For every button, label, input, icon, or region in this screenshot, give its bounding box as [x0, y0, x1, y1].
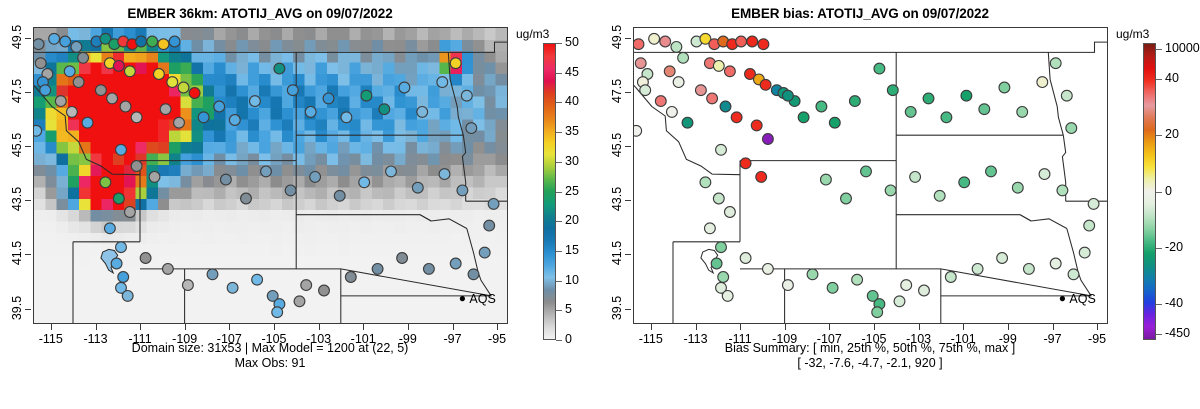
- svg-text:AQS: AQS: [469, 292, 495, 306]
- panel-bias: EMBER bias: ATOTIJ_AVG on 09/07/2022 AQS…: [600, 0, 1200, 409]
- x-tick: [785, 324, 786, 330]
- y-tick: [625, 200, 631, 201]
- y-tick-label: 39.5: [610, 288, 624, 328]
- colorbar-tick: [1156, 79, 1162, 80]
- y-tick-label: 49.5: [10, 17, 24, 57]
- colorbar-tick: [1156, 49, 1162, 50]
- y-tick-label: 45.5: [10, 125, 24, 165]
- colorbar-tick-label: 5: [565, 302, 572, 316]
- colorbar-tick: [556, 43, 562, 44]
- colorbar-tick-label: 35: [565, 124, 579, 138]
- colorbar-tick: [1156, 192, 1162, 193]
- y-tick-label: 49.5: [610, 17, 624, 57]
- x-tick: [96, 324, 97, 330]
- colorbar-tick: [556, 221, 562, 222]
- y-tick: [625, 309, 631, 310]
- x-tick: [919, 324, 920, 330]
- x-tick: [1097, 324, 1098, 330]
- x-tick: [874, 324, 875, 330]
- y-tick: [25, 92, 31, 93]
- caption-bias-line1: Bias Summary: [ min, 25th %, 50th %, 75t…: [600, 341, 1140, 356]
- x-tick: [1008, 324, 1009, 330]
- colorbar-tick-label: 50: [565, 35, 579, 49]
- y-tick-label: 47.5: [10, 71, 24, 111]
- y-tick-label: 43.5: [10, 179, 24, 219]
- colorbar-tick: [1156, 135, 1162, 136]
- y-tick: [625, 38, 631, 39]
- colorbar-tick-label: 20: [1165, 127, 1179, 141]
- x-tick: [829, 324, 830, 330]
- colorbar-tick-label: 10: [565, 273, 579, 287]
- colorbar-tick: [556, 310, 562, 311]
- caption-model-line1: Domain size: 31x53 | Max Model = 1200 at…: [0, 341, 540, 356]
- x-tick: [408, 324, 409, 330]
- x-tick: [696, 324, 697, 330]
- colorbar-tick-label: -20: [1165, 240, 1183, 254]
- x-tick: [51, 324, 52, 330]
- x-tick: [140, 324, 141, 330]
- colorbar-tick-label: 10000: [1165, 41, 1200, 55]
- colorbar-tick-label: 20: [565, 213, 579, 227]
- map-plot-bias[interactable]: AQS: [633, 27, 1108, 324]
- colorbar-unit-label: ug/m3: [1116, 27, 1149, 41]
- y-tick: [25, 38, 31, 39]
- colorbar-gradient[interactable]: [1143, 43, 1156, 340]
- y-tick-label: 43.5: [610, 179, 624, 219]
- caption-model-line2: Max Obs: 91: [0, 356, 540, 371]
- map-plot-model[interactable]: AQS: [33, 27, 508, 324]
- y-tick-label: 39.5: [10, 288, 24, 328]
- colorbar-tick-label: 40: [1165, 71, 1179, 85]
- panel-model: EMBER 36km: ATOTIJ_AVG on 09/07/2022 AQS…: [0, 0, 600, 409]
- colorbar-tick: [1156, 248, 1162, 249]
- colorbar-tick-label: -40: [1165, 296, 1183, 310]
- x-tick: [319, 324, 320, 330]
- colorbar-unit-label: ug/m3: [516, 27, 549, 41]
- y-tick: [25, 309, 31, 310]
- colorbar-tick-label: 0: [565, 332, 572, 346]
- panel-title-model: EMBER 36km: ATOTIJ_AVG on 09/07/2022: [0, 6, 520, 21]
- colorbar-tick-label: 15: [565, 243, 579, 257]
- y-tick: [25, 200, 31, 201]
- x-tick: [1053, 324, 1054, 330]
- panel-title-bias: EMBER bias: ATOTIJ_AVG on 09/07/2022: [600, 6, 1120, 21]
- x-tick: [453, 324, 454, 330]
- colorbar-tick: [556, 132, 562, 133]
- y-tick-label: 41.5: [10, 233, 24, 273]
- y-tick-label: 47.5: [610, 71, 624, 111]
- y-tick-label: 41.5: [610, 233, 624, 273]
- colorbar-tick-label: -450: [1165, 326, 1190, 340]
- colorbar-tick: [556, 251, 562, 252]
- svg-text:AQS: AQS: [1069, 292, 1095, 306]
- colorbar-tick: [556, 281, 562, 282]
- x-tick: [497, 324, 498, 330]
- colorbar-tick-label: 45: [565, 65, 579, 79]
- colorbar-tick-label: 25: [565, 184, 579, 198]
- y-tick: [625, 92, 631, 93]
- caption-bias-line2: [ -32, -7.6, -4.7, -2.1, 920 ]: [600, 356, 1140, 371]
- x-tick: [740, 324, 741, 330]
- map-canvas-bias: AQS: [634, 28, 1107, 323]
- colorbar-tick: [1156, 334, 1162, 335]
- y-tick: [625, 146, 631, 147]
- x-tick: [963, 324, 964, 330]
- colorbar-tick: [556, 340, 562, 341]
- x-tick: [185, 324, 186, 330]
- y-tick: [625, 254, 631, 255]
- x-tick: [363, 324, 364, 330]
- colorbar-tick-label: 30: [565, 154, 579, 168]
- x-tick: [651, 324, 652, 330]
- y-tick-label: 45.5: [610, 125, 624, 165]
- y-tick: [25, 146, 31, 147]
- x-tick: [274, 324, 275, 330]
- colorbar-tick-label: 40: [565, 94, 579, 108]
- colorbar-tick: [556, 192, 562, 193]
- figure-root: EMBER 36km: ATOTIJ_AVG on 09/07/2022 AQS…: [0, 0, 1200, 409]
- colorbar-gradient[interactable]: [543, 43, 556, 340]
- map-canvas-model: AQS: [34, 28, 507, 323]
- colorbar-tick-label: 0: [1165, 184, 1172, 198]
- colorbar-tick: [556, 162, 562, 163]
- y-tick: [25, 254, 31, 255]
- colorbar-tick: [1156, 304, 1162, 305]
- colorbar-tick: [556, 102, 562, 103]
- x-tick: [229, 324, 230, 330]
- colorbar-tick: [556, 73, 562, 74]
